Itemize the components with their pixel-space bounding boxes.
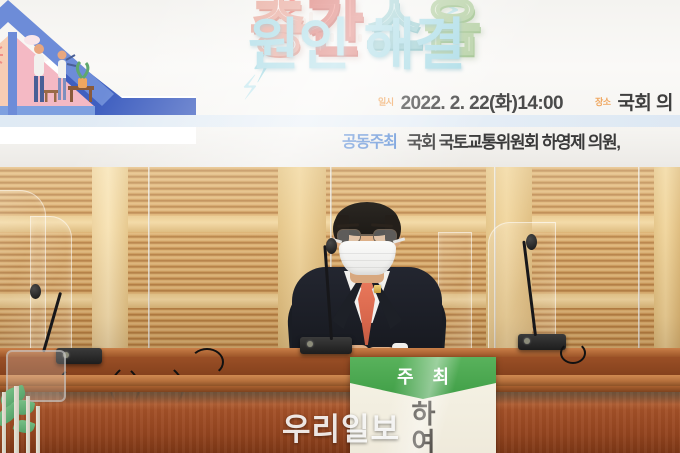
banner-divider-stripe [0,115,680,127]
desk-top-surface [0,375,680,386]
host-label: 공동주최 [342,128,397,152]
banner-host-line: 공동주최 국회 국토교통위원회 하영제 의원, [342,128,620,152]
potted-plant [0,386,52,453]
host-value: 국회 국토교통위원회 하영제 의원, [407,128,620,153]
date-label: 일시 [378,95,394,108]
glasses-bridge [361,234,373,236]
banner-info-line: 일시 2022. 2. 22(화)14:00 장소 국회 의 [378,88,673,114]
screenshot-stage: 주 최 하 여 [0,0,680,453]
date-value: 2022. 2. 22(화)14:00 [401,88,563,115]
place-value: 국회 의 [618,88,673,115]
event-backdrop-banner: ⚡ ⚡ ⚡ ⚡ 층 간 소 음 원인 해결 일시 2022. 2. 22(화)1… [0,0,680,167]
face-mask [339,241,396,275]
lapel-badge-icon [374,285,381,293]
banner-subtitle: 원인 해결 [248,16,465,74]
mic-cable [190,348,224,376]
mic-cable [560,342,586,364]
place-label: 장소 [595,95,611,108]
press-watermark: 우리일보 [282,404,400,449]
